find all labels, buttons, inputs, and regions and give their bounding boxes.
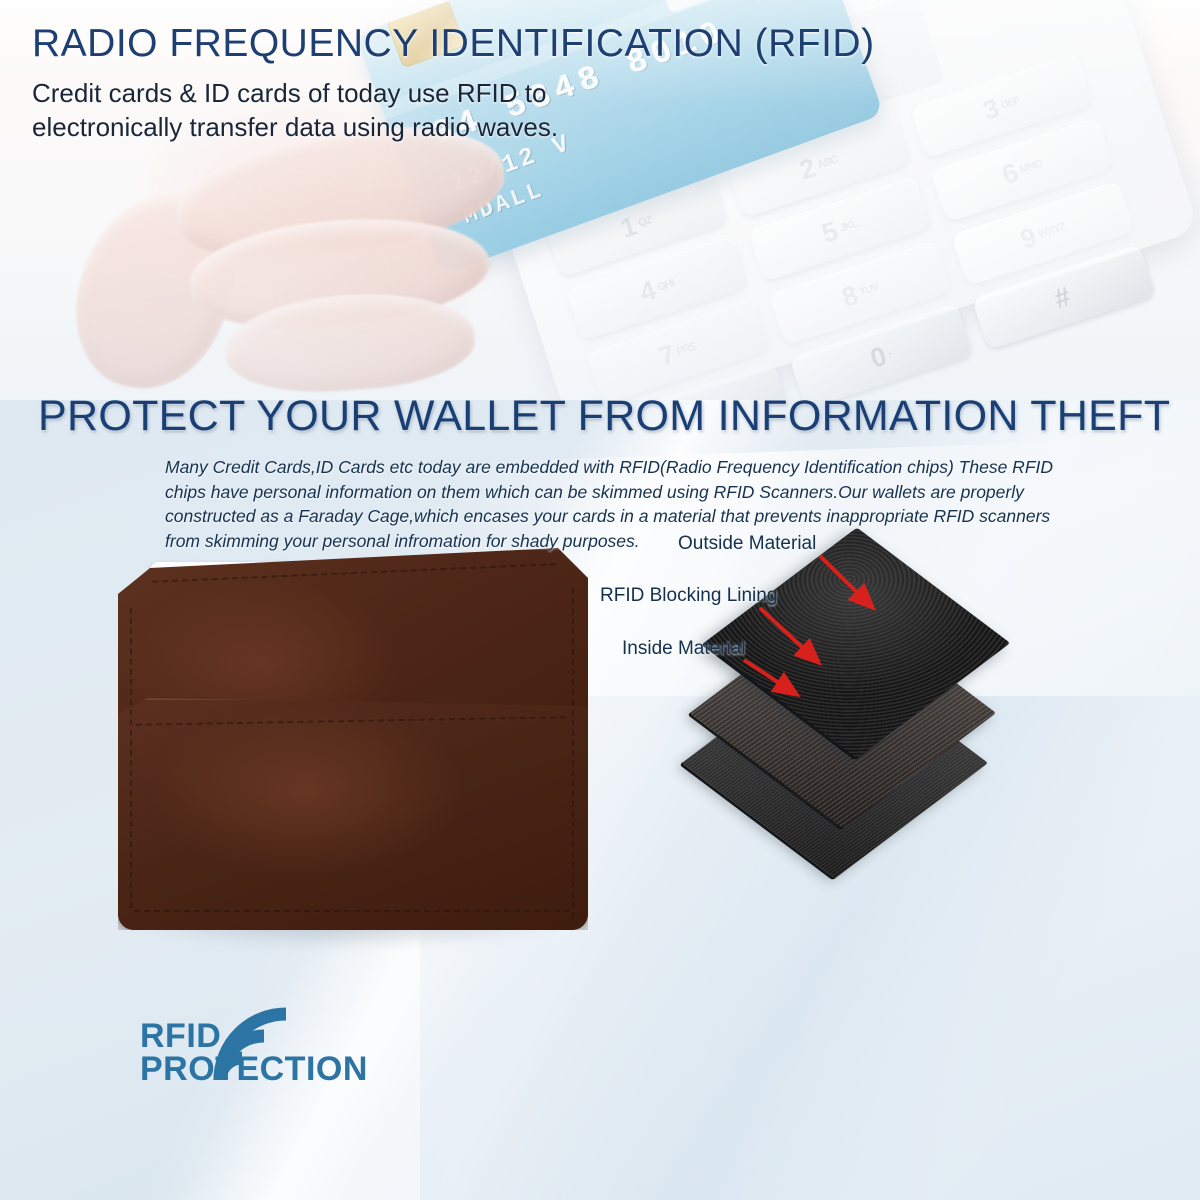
- key-digit: 5: [818, 216, 841, 250]
- stitch-line: [130, 608, 132, 908]
- page-title-protect: PROTECT YOUR WALLET FROM INFORMATION THE…: [38, 392, 1170, 441]
- key-digit: 4: [636, 275, 659, 309]
- key-digit: 9: [1017, 221, 1040, 255]
- rfid-subtext-line1: Credit cards & ID cards of today use RFI…: [32, 76, 558, 110]
- keypad-key: 8 TUV: [768, 240, 952, 346]
- key-letters: ABC: [816, 155, 839, 170]
- key-letters: -: [887, 349, 892, 358]
- material-layer-outside: [762, 548, 952, 738]
- key-digit: 6: [998, 157, 1021, 191]
- leather-wallet: um pantaloons greencard PAYBACK RP- Sanj…: [118, 548, 588, 930]
- key-letters: GHI: [657, 279, 676, 293]
- keypad-key: 1 QZ: [544, 172, 728, 278]
- keypad-key: 6 MNO: [930, 117, 1114, 223]
- key-letters: QZ: [637, 216, 652, 229]
- key-letters: PRS: [676, 342, 697, 357]
- label-inside-material: Inside Material: [622, 638, 746, 660]
- keypad-key: 5 JKL: [748, 176, 932, 282]
- card-hologram: [644, 0, 793, 14]
- pos-keypad: 1 QZ 2 ABC 3 DEF 4 GHI 5 JKL: [544, 53, 1155, 400]
- keypad-key: 2 ABC: [727, 112, 911, 218]
- key-digit: 0: [867, 341, 890, 375]
- key-digit: 2: [796, 152, 819, 186]
- key-digit: #: [1050, 281, 1073, 315]
- label-rfid-blocking-lining: RFID Blocking Lining: [600, 585, 777, 607]
- rfid-protection-badge: RFID PROTECTION: [140, 1020, 368, 1087]
- rfid-subtext: Credit cards & ID cards of today use RFI…: [32, 76, 558, 144]
- keypad-key: 4 GHI: [565, 236, 749, 342]
- page-title-rfid: RADIO FREQUENCY IDENTIFICATION (RFID): [32, 22, 875, 66]
- key-digit: 1: [617, 210, 640, 244]
- protect-paragraph: Many Credit Cards,ID Cards etc today are…: [165, 455, 1065, 553]
- key-letters: MNO: [1019, 159, 1043, 175]
- keypad-key: 3 DEF: [910, 53, 1094, 159]
- rfid-wave-icon: [202, 988, 312, 1084]
- infographic-canvas: 1 QZ 2 ABC 3 DEF 4 GHI 5 JKL: [0, 0, 1200, 1200]
- keypad-key: 7 PRS: [586, 299, 770, 400]
- key-digit: 3: [979, 93, 1002, 127]
- keypad-key: 9 WXYZ: [951, 181, 1135, 287]
- card-holder-name: MDALL: [460, 177, 548, 230]
- key-letters: WXYZ: [1037, 222, 1066, 239]
- wallet-front-pocket: [118, 698, 588, 930]
- key-letters: TUV: [859, 283, 880, 297]
- key-digit: 8: [838, 279, 861, 313]
- thumb: [61, 177, 249, 400]
- label-outside-material: Outside Material: [678, 533, 816, 555]
- key-digit: 7: [655, 339, 678, 373]
- key-letters: JKL: [839, 219, 859, 233]
- rfid-wave-icon: [688, 0, 838, 13]
- keypad-key: 0 -: [789, 304, 973, 400]
- finger: [185, 205, 494, 341]
- rfid-subtext-line2: electronically transfer data using radio…: [32, 110, 558, 144]
- stitch-line: [572, 588, 574, 918]
- key-letters: DEF: [1000, 96, 1021, 110]
- finger: [222, 286, 478, 398]
- stitch-line: [134, 910, 570, 912]
- keypad-key: #: [972, 244, 1156, 350]
